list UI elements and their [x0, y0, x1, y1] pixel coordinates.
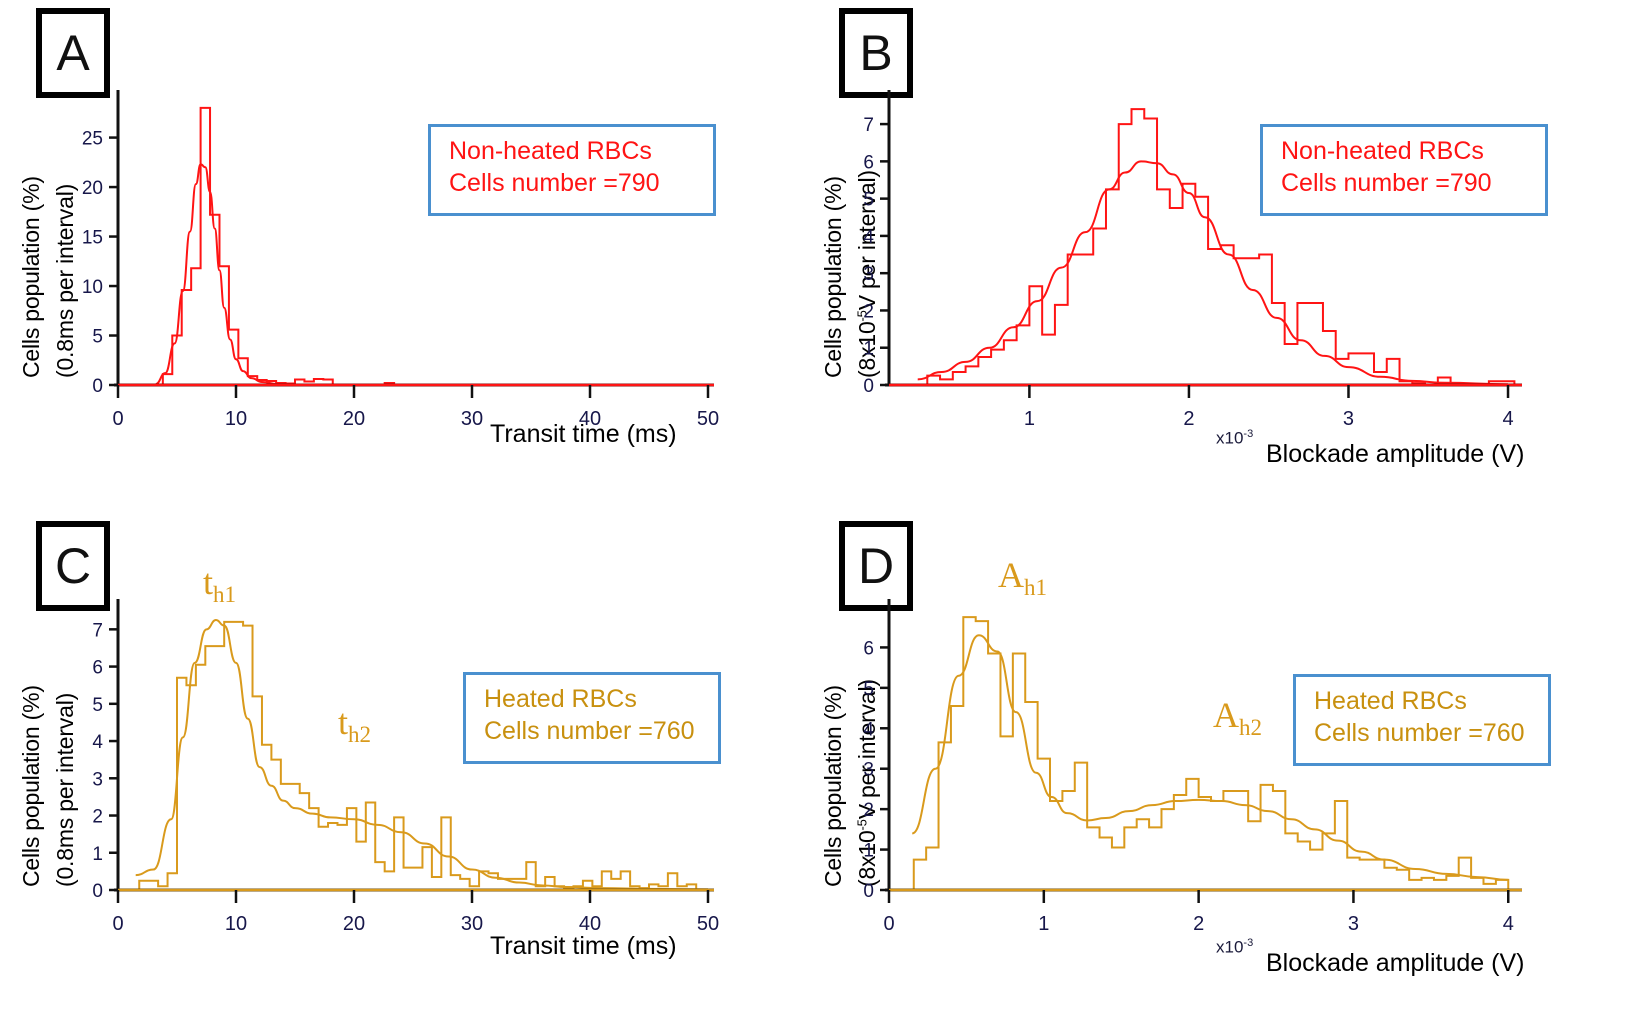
y-tick-label: 0 [92, 376, 103, 397]
x-tick-label: 0 [112, 913, 123, 935]
y-tick-label: 6 [92, 658, 103, 679]
y-tick-label: 1 [863, 841, 874, 862]
y-tick-label: 0 [92, 881, 103, 902]
x-tick-label: 20 [343, 913, 365, 935]
y-tick-label: 5 [92, 327, 103, 348]
x-tick-label: 20 [343, 408, 365, 430]
y-tick-label: 4 [863, 227, 874, 248]
y-tick-label: 5 [92, 695, 103, 716]
histogram-outline [139, 622, 696, 890]
fit-curve [918, 161, 1508, 384]
x-tick-label: 4 [1503, 913, 1514, 935]
x-tick-label: 0 [112, 408, 123, 430]
y-tick-label: 5 [863, 190, 874, 211]
y-tick-label: 1 [92, 844, 103, 865]
y-tick-label: 6 [863, 152, 874, 173]
panel-b-plot: 012345671234 [823, 0, 1645, 507]
y-tick-label: 1 [863, 339, 874, 360]
y-tick-label: 2 [92, 807, 103, 828]
y-tick-label: 20 [82, 178, 103, 199]
x-tick-label: 4 [1502, 408, 1513, 430]
y-tick-label: 25 [82, 129, 103, 150]
histogram-outline [163, 108, 394, 385]
y-tick-label: 2 [863, 800, 874, 821]
y-tick-label: 0 [863, 881, 874, 902]
panel-a-plot: 051015202501020304050 [0, 0, 822, 507]
x-tick-label: 1 [1038, 913, 1049, 935]
y-tick-label: 10 [82, 277, 103, 298]
panel-d: D Cells population (%) (8x10-5V per inte… [823, 507, 1645, 1014]
x-tick-label: 3 [1343, 408, 1354, 430]
x-tick-label: 1 [1024, 408, 1035, 430]
y-tick-label: 4 [863, 719, 874, 740]
y-tick-label: 6 [863, 638, 874, 659]
y-tick-label: 5 [863, 679, 874, 700]
panel-d-plot: 012345601234 [823, 507, 1645, 1014]
panel-c-plot: 0123456701020304050 [0, 507, 822, 1014]
y-tick-label: 4 [92, 732, 103, 753]
x-tick-label: 0 [883, 913, 894, 935]
panel-c: C Cells population (%) (0.8ms per interv… [0, 507, 822, 1014]
y-tick-label: 2 [863, 301, 874, 322]
y-tick-label: 15 [82, 228, 103, 249]
x-tick-label: 50 [697, 913, 719, 935]
fit-curve [912, 635, 1508, 880]
x-tick-label: 2 [1193, 913, 1204, 935]
y-tick-label: 7 [92, 620, 103, 641]
x-tick-label: 30 [461, 408, 483, 430]
x-tick-label: 40 [579, 913, 601, 935]
y-tick-label: 3 [863, 760, 874, 781]
x-tick-label: 3 [1348, 913, 1359, 935]
x-tick-label: 2 [1183, 408, 1194, 430]
x-tick-label: 10 [225, 913, 247, 935]
y-tick-label: 0 [863, 376, 874, 397]
y-tick-label: 3 [92, 769, 103, 790]
x-tick-label: 50 [697, 408, 719, 430]
panel-a: A Cells population (%) (0.8ms per interv… [0, 0, 822, 507]
y-tick-label: 7 [863, 115, 874, 136]
y-tick-label: 3 [863, 264, 874, 285]
panel-b: B Cells population (%) (8x10-5V per inte… [823, 0, 1645, 507]
x-tick-label: 10 [225, 408, 247, 430]
x-tick-label: 40 [579, 408, 601, 430]
x-tick-label: 30 [461, 913, 483, 935]
